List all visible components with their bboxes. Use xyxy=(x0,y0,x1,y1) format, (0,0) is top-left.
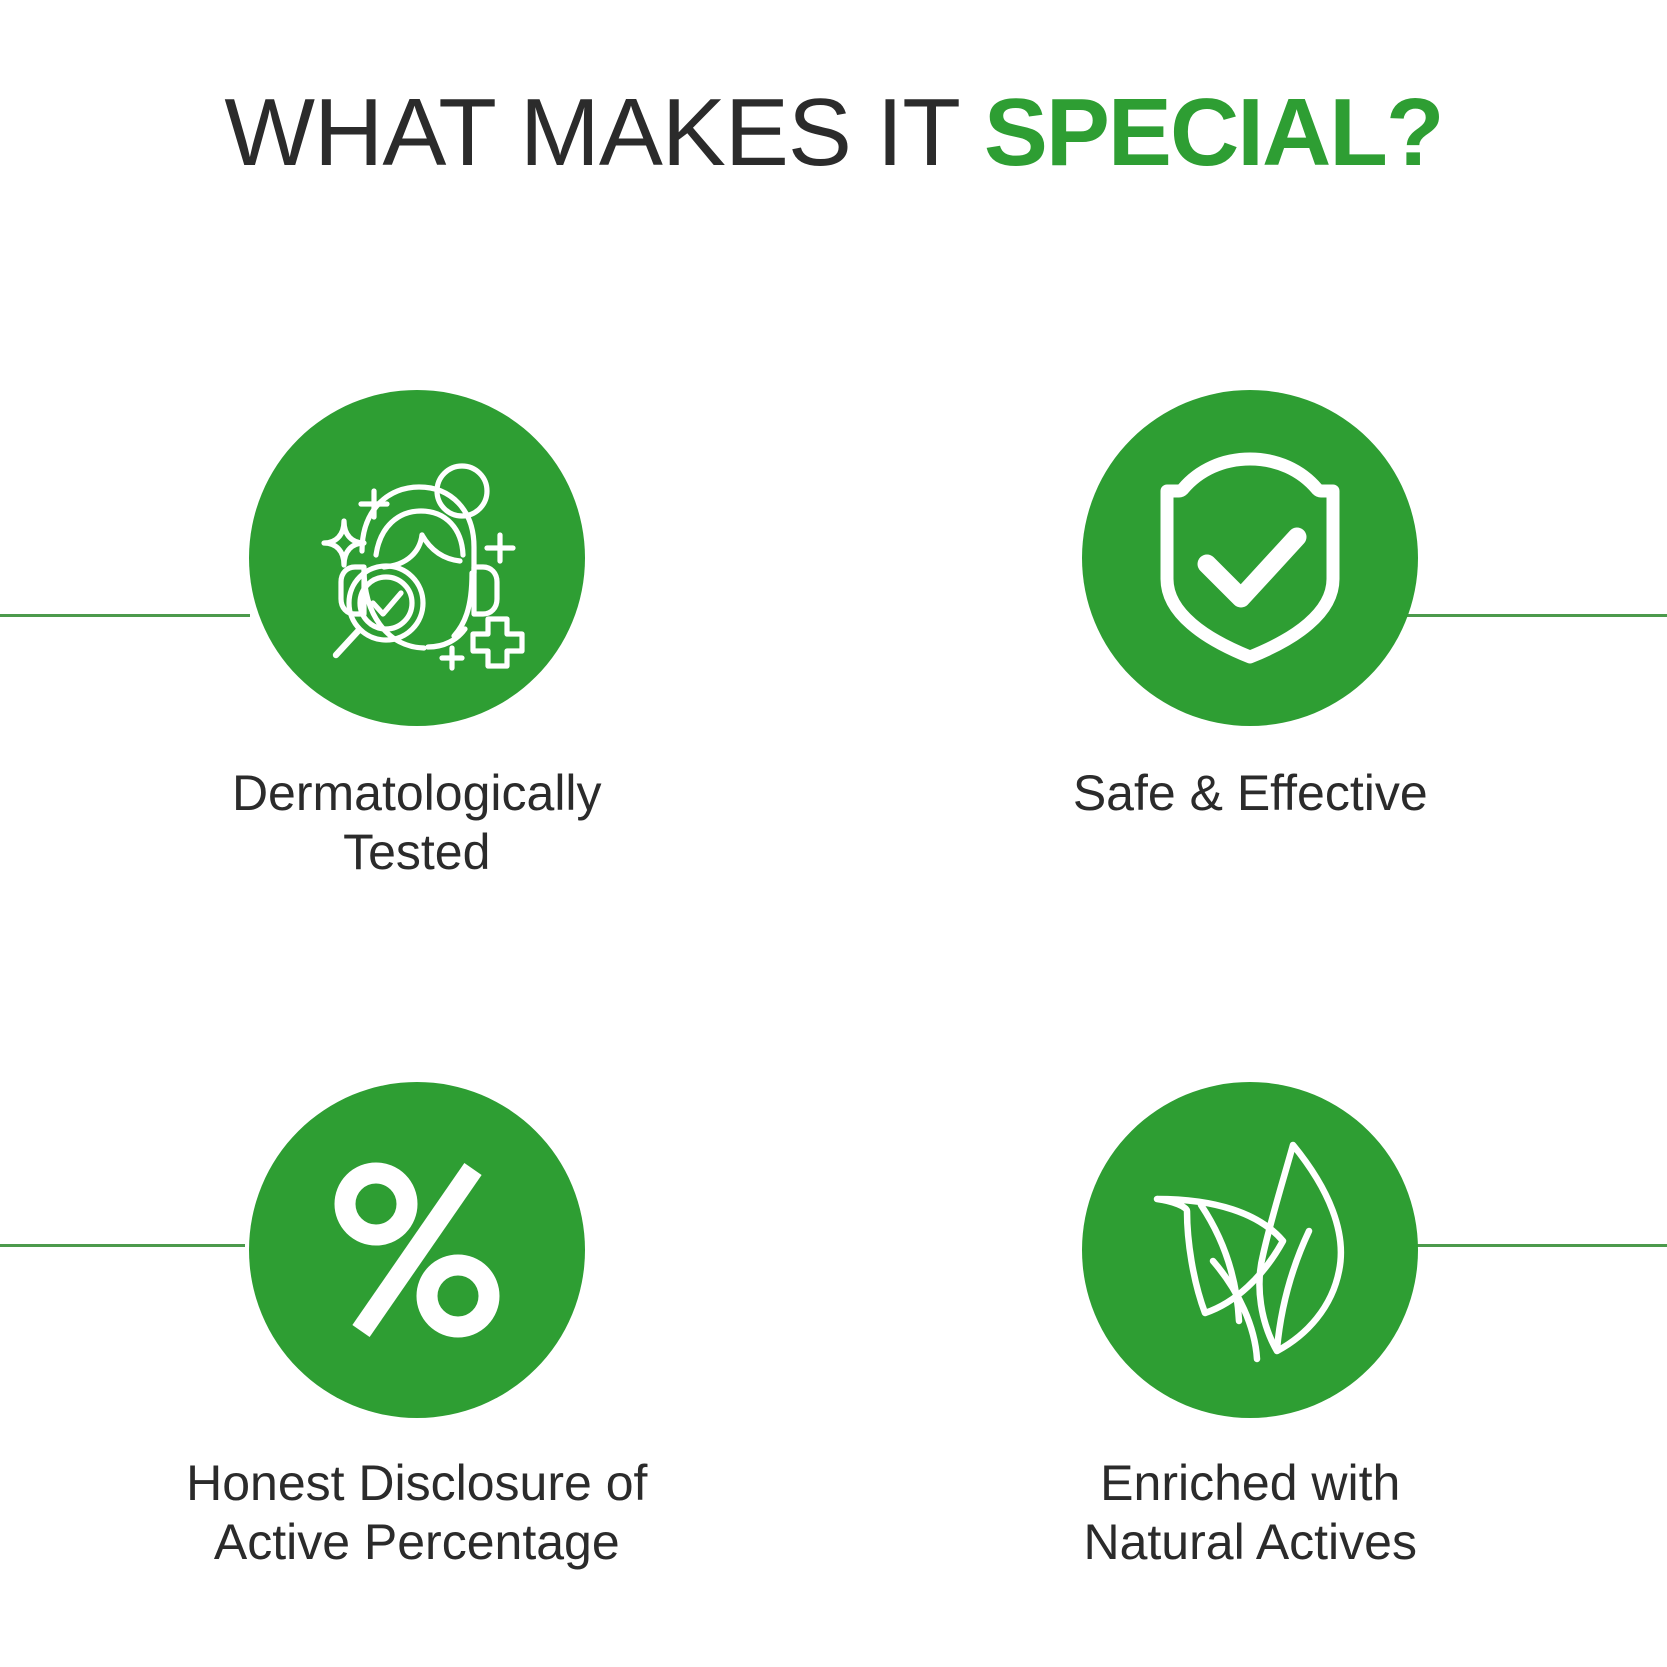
page-title-plain: WHAT MAKES IT xyxy=(224,79,983,186)
feature-icon-badge xyxy=(249,1082,585,1418)
feature-icon-badge xyxy=(1082,1082,1418,1418)
feature-item-honest-disclosure: Honest Disclosure of Active Percentage xyxy=(0,1082,834,1572)
leaves-icon xyxy=(1143,1137,1357,1363)
feature-icon-badge xyxy=(1082,390,1418,726)
feature-row-2: Honest Disclosure of Active Percentage xyxy=(0,1082,1667,1572)
feature-item-natural-actives: Enriched with Natural Actives xyxy=(834,1082,1667,1572)
feature-label: Safe & Effective xyxy=(1073,764,1428,823)
feature-label: Honest Disclosure of Active Percentage xyxy=(186,1454,647,1572)
face-magnifier-check-icon xyxy=(302,443,532,673)
feature-label: Dermatologically Tested xyxy=(232,764,602,882)
shield-check-icon xyxy=(1145,447,1355,669)
feature-row-1: Dermatologically Tested Safe & Effective xyxy=(0,390,1667,882)
page-title-accent: SPECIAL? xyxy=(984,79,1443,186)
percent-icon xyxy=(327,1155,507,1345)
feature-item-dermatologically-tested: Dermatologically Tested xyxy=(0,390,834,882)
feature-grid: Dermatologically Tested Safe & Effective xyxy=(0,390,1667,1572)
page-title: WHAT MAKES IT SPECIAL? xyxy=(0,78,1667,188)
feature-item-safe-and-effective: Safe & Effective xyxy=(834,390,1667,882)
feature-label: Enriched with Natural Actives xyxy=(1084,1454,1417,1572)
feature-icon-badge xyxy=(249,390,585,726)
infographic-page: WHAT MAKES IT SPECIAL? xyxy=(0,0,1667,1667)
